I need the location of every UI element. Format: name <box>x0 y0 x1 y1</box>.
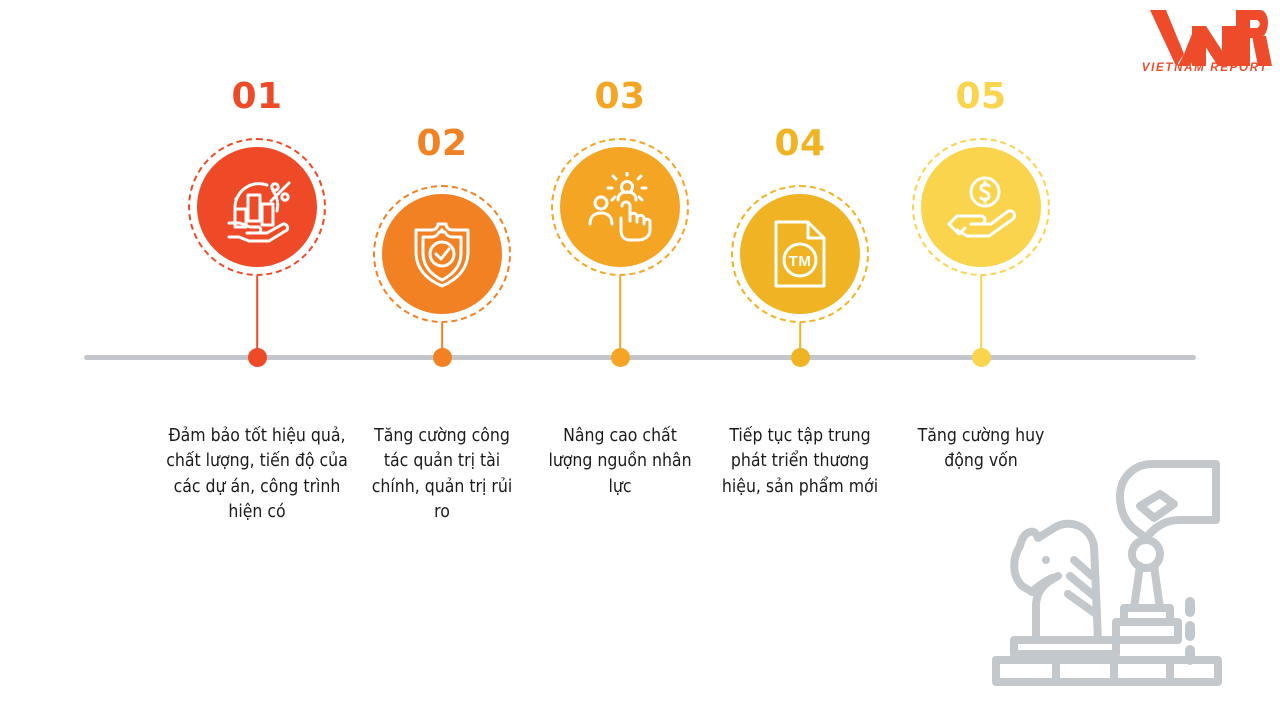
step-icon-badge-05[interactable] <box>912 138 1050 276</box>
icon-disc <box>382 194 502 314</box>
timeline: 01 <box>0 0 1280 720</box>
connector-line <box>256 276 258 358</box>
timeline-node-dot-05[interactable] <box>972 348 991 367</box>
timeline-step-5[interactable]: 05 Tăng cường huy động v <box>866 0 1096 600</box>
step-caption-02: Tăng cường công tác quản trị tài chính, … <box>367 424 517 526</box>
step-icon-badge-03[interactable] <box>551 138 689 276</box>
timeline-node-dot-03[interactable] <box>611 348 630 367</box>
step-caption-01: Đảm bảo tốt hiệu quả, chất lượng, tiến đ… <box>162 424 352 526</box>
connector-line <box>980 276 982 358</box>
icon-disc: TM <box>740 194 860 314</box>
shield-check-icon <box>408 218 476 290</box>
hand-holding-dollar-coin-icon <box>945 176 1017 238</box>
icon-disc <box>560 147 680 267</box>
step-icon-badge-04[interactable]: TM <box>731 185 869 323</box>
step-caption-03: Nâng cao chất lượng nguồn nhân lực <box>544 424 696 500</box>
hand-holding-bar-chart-percent-icon <box>221 171 293 243</box>
step-icon-badge-01[interactable] <box>188 138 326 276</box>
icon-disc <box>197 147 317 267</box>
icon-disc <box>921 147 1041 267</box>
connector-line <box>619 276 621 358</box>
timeline-node-dot-02[interactable] <box>433 348 452 367</box>
document-trademark-tm-icon: TM <box>770 218 830 290</box>
timeline-node-dot-04[interactable] <box>791 348 810 367</box>
person-selection-hand-pointer-icon <box>585 172 655 242</box>
step-caption-04: Tiếp tục tập trung phát triển thương hiệ… <box>711 424 889 500</box>
step-number-05: 05 <box>866 76 1096 117</box>
step-icon-badge-02[interactable] <box>373 185 511 323</box>
svg-text:TM: TM <box>789 253 812 270</box>
step-caption-05: Tăng cường huy động vốn <box>901 424 1061 475</box>
timeline-node-dot-01[interactable] <box>248 348 267 367</box>
